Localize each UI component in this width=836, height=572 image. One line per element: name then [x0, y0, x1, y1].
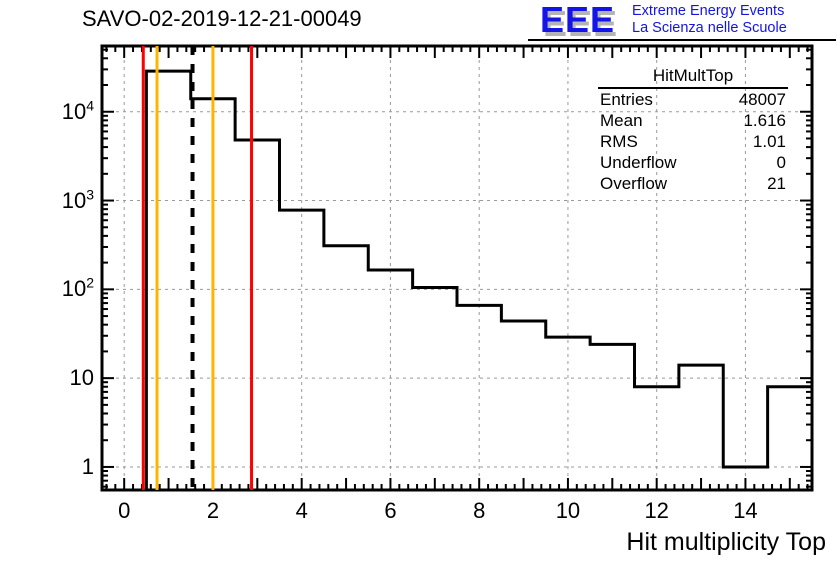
x-tick-label: 12 [644, 498, 668, 524]
stats-value: 0 [777, 152, 786, 173]
eee-logo-text: Extreme Energy Events La Scienza nelle S… [632, 3, 787, 37]
stats-key: Entries [600, 89, 653, 110]
y-tick-label: 104 [62, 99, 94, 125]
stats-key: RMS [600, 131, 638, 152]
eee-logo[interactable]: EEE Extreme Energy Events La Scienza nel… [540, 1, 832, 41]
x-tick-label: 4 [296, 498, 308, 524]
stats-value: 48007 [739, 89, 786, 110]
y-tick-label: 102 [62, 276, 94, 302]
stats-row: Underflow0 [598, 152, 788, 173]
x-tick-label: 10 [556, 498, 580, 524]
x-tick-label: 6 [384, 498, 396, 524]
x-axis-title: Hit multiplicity Top [626, 528, 826, 557]
stats-rows: Entries48007Mean1.616RMS1.01Underflow0Ov… [598, 89, 788, 194]
stats-key: Mean [600, 110, 643, 131]
eee-logo-mark: EEE [540, 1, 615, 39]
stats-row: Mean1.616 [598, 110, 788, 131]
stats-key: Overflow [600, 173, 667, 194]
statistics-box[interactable]: HitMultTop Entries48007Mean1.616RMS1.01U… [598, 66, 788, 194]
stats-row: RMS1.01 [598, 131, 788, 152]
x-tick-label: 2 [207, 498, 219, 524]
stats-value: 21 [767, 173, 786, 194]
x-tick-label: 0 [118, 498, 130, 524]
eee-logo-line2: La Scienza nelle Scuole [632, 20, 787, 37]
x-tick-label: 8 [473, 498, 485, 524]
stats-key: Underflow [600, 152, 677, 173]
stats-value: 1.01 [753, 131, 786, 152]
page-title: SAVO-02-2019-12-21-00049 [82, 6, 362, 32]
y-tick-label: 1 [82, 454, 94, 480]
x-tick-label: 14 [733, 498, 757, 524]
stats-histogram-name: HitMultTop [598, 66, 788, 89]
stats-row: Entries48007 [598, 89, 788, 110]
stats-value: 1.616 [743, 110, 786, 131]
y-tick-label: 10 [70, 365, 94, 391]
eee-logo-line1: Extreme Energy Events [632, 3, 787, 20]
y-tick-label: 103 [62, 188, 94, 214]
stats-row: Overflow21 [598, 173, 788, 194]
